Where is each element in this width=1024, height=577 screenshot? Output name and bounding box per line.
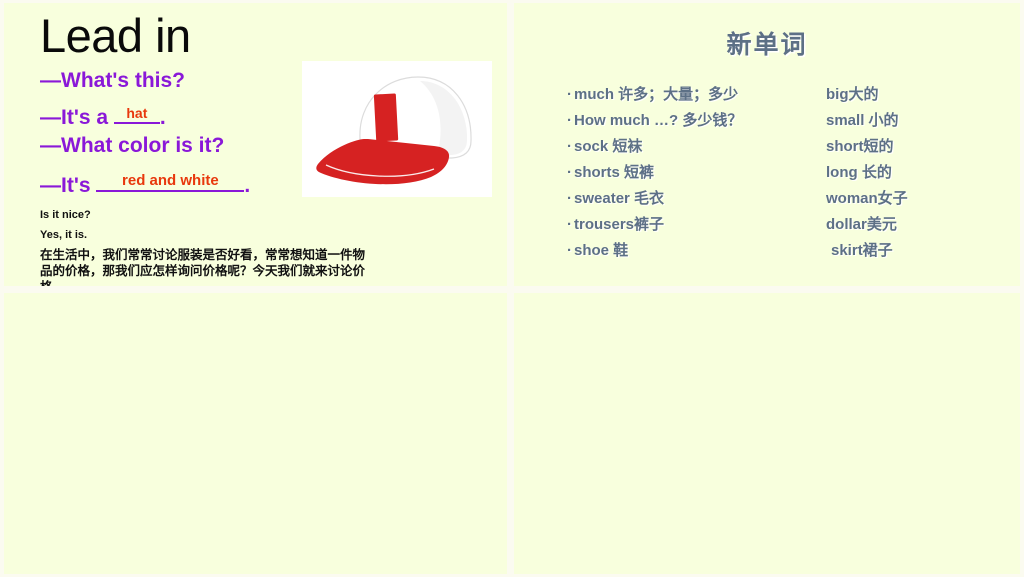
lead-answer-1-prefix: —It's a bbox=[40, 106, 108, 129]
word-left-4-label: sweater 毛衣 bbox=[574, 190, 664, 207]
panel-lead-in: Lead in —What's this? —It's a hat . —Wha… bbox=[4, 3, 507, 286]
word-right-0: big大的 bbox=[826, 83, 879, 104]
word-left-4: ·sweater 毛衣 bbox=[567, 187, 664, 208]
bullet-icon: · bbox=[567, 190, 572, 207]
word-right-1: small 小的 bbox=[826, 109, 899, 130]
bullet-icon: · bbox=[567, 138, 572, 155]
lead-answer-1: —It's a hat . bbox=[40, 101, 166, 130]
word-right-3: long 长的 bbox=[826, 161, 892, 182]
word-left-0-label: much 许多；大量；多少 bbox=[574, 86, 738, 103]
word-left-3-label: shorts 短裤 bbox=[574, 164, 654, 181]
bullet-icon: · bbox=[567, 112, 572, 129]
panel-new-words: 新单词 ·much 许多；大量；多少 big大的 ·How much …? 多少… bbox=[514, 3, 1020, 286]
word-left-2-label: sock 短袜 bbox=[574, 138, 642, 155]
lead-answer-2-suffix: . bbox=[244, 174, 250, 197]
lead-answer-2-prefix: —It's bbox=[40, 174, 91, 197]
page-title: Lead in bbox=[40, 11, 191, 60]
word-left-6: ·shoe 鞋 bbox=[567, 239, 628, 260]
word-right-6: skirt裙子 bbox=[831, 239, 893, 260]
lead-chinese-note: 在生活中，我们常常讨论服装是否好看，常常想知道一件物品的价格，那我们应怎样询问价… bbox=[40, 247, 370, 286]
word-left-2: ·sock 短袜 bbox=[567, 135, 642, 156]
word-left-5: ·trousers裤子 bbox=[567, 213, 664, 234]
bullet-icon: · bbox=[567, 86, 572, 103]
blank-red-and-white[interactable]: red and white bbox=[96, 169, 244, 192]
word-right-2: short短的 bbox=[826, 135, 894, 156]
bullet-icon: · bbox=[567, 216, 572, 233]
word-left-1: ·How much …? 多少钱？ bbox=[567, 109, 742, 130]
word-left-1-label: How much …? 多少钱？ bbox=[574, 112, 742, 129]
panel-socks-tshirt: —What are these? —They're socks . —What … bbox=[4, 293, 507, 574]
bullet-icon: · bbox=[567, 164, 572, 181]
lead-answer-1-suffix: . bbox=[160, 106, 166, 129]
word-left-6-label: shoe 鞋 bbox=[574, 242, 628, 259]
lead-question-2: —What color is it? bbox=[40, 134, 224, 158]
blank-red-and-white-answer: red and white bbox=[96, 172, 244, 189]
cap-image bbox=[302, 61, 492, 197]
slide-root: Lead in —What's this? —It's a hat . —Wha… bbox=[0, 0, 1024, 577]
lead-answer-2: —It's red and white . bbox=[40, 169, 250, 198]
bullet-icon: · bbox=[567, 242, 572, 259]
word-left-3: ·shorts 短裤 bbox=[567, 161, 654, 182]
word-left-5-label: trousers裤子 bbox=[574, 216, 664, 233]
new-words-title: 新单词 bbox=[514, 25, 1020, 61]
panel-shorts-sweater: —What's this? —It's a shorts . —What col… bbox=[514, 293, 1020, 574]
lead-small-line-2: Yes, it is. bbox=[40, 229, 87, 241]
lead-small-line-1: Is it nice? bbox=[40, 209, 91, 221]
word-right-4: woman女子 bbox=[826, 187, 908, 208]
blank-hat[interactable]: hat bbox=[114, 101, 160, 124]
lead-question-1: —What's this? bbox=[40, 69, 185, 93]
blank-hat-answer: hat bbox=[114, 105, 160, 121]
word-left-0: ·much 许多；大量；多少 bbox=[567, 83, 738, 104]
word-right-5: dollar美元 bbox=[826, 213, 897, 234]
